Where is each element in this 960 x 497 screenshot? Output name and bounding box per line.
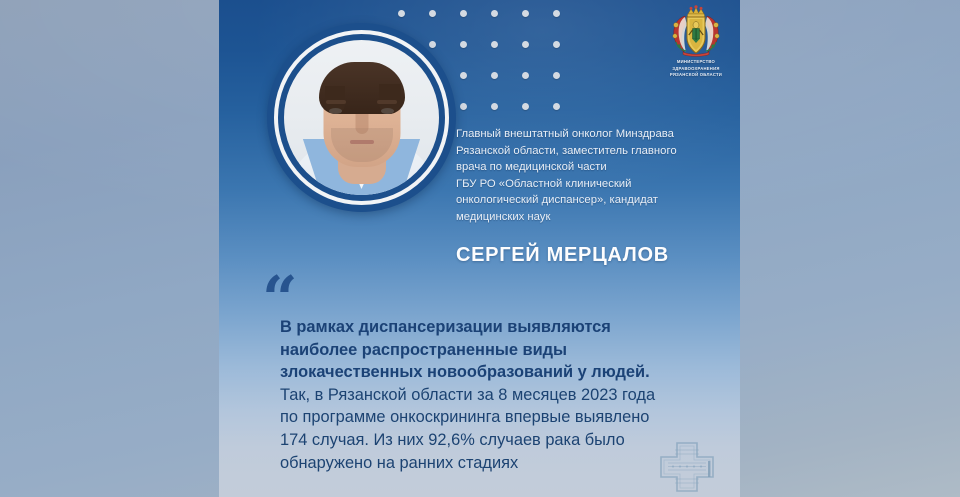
- portrait-hair: [319, 62, 405, 114]
- quote-line: злокачественных новообразований у людей.: [280, 361, 732, 384]
- grid-dot: [522, 41, 529, 48]
- grid-dot: [460, 103, 467, 110]
- medical-cross-icon: [651, 437, 723, 497]
- portrait-nose: [355, 114, 368, 134]
- quote-line: В рамках диспансеризации выявляются: [280, 316, 732, 339]
- position-line: Рязанской области, заместитель главного: [456, 143, 728, 160]
- info-card: МИНИСТЕРСТВО ЗДРАВООХРАНЕНИЯ РЯЗАНСКОЙ О…: [219, 0, 740, 497]
- person-name: СЕРГЕЙ МЕРЦАЛОВ: [456, 244, 669, 267]
- quote-line: Так, в Рязанской области за 8 месяцев 20…: [280, 384, 732, 407]
- position-line: Главный внештатный онколог Минздрава: [456, 126, 728, 143]
- grid-dot: [460, 41, 467, 48]
- position-line: врача по медицинской части: [456, 159, 728, 176]
- position-line: ГБУ РО «Областной клинический: [456, 176, 728, 193]
- position-line: онкологический диспансер», кандидат: [456, 192, 728, 209]
- portrait-mouth: [350, 140, 374, 144]
- avatar-ring-white: [274, 30, 449, 205]
- grid-dot: [553, 72, 560, 79]
- grid-dot: [553, 103, 560, 110]
- grid-dot: [553, 41, 560, 48]
- grid-dot: [460, 72, 467, 79]
- grid-dot: [398, 10, 405, 17]
- portrait-eye-right: [381, 108, 394, 114]
- grid-dot: [491, 41, 498, 48]
- grid-dot: [429, 10, 436, 17]
- avatar-ring-blue: [278, 34, 445, 201]
- grid-dot: [522, 10, 529, 17]
- grid-dot: [491, 72, 498, 79]
- grid-dot: [522, 72, 529, 79]
- portrait-eye-left: [329, 108, 342, 114]
- grid-dot: [491, 103, 498, 110]
- coat-of-arms-icon: [667, 5, 725, 57]
- portrait-brow-left: [326, 100, 346, 104]
- avatar-photo: [284, 40, 439, 195]
- grid-dot: [429, 41, 436, 48]
- ministry-emblem: МИНИСТЕРСТВО ЗДРАВООХРАНЕНИЯ РЯЗАНСКОЙ О…: [660, 5, 732, 85]
- grid-dot: [553, 10, 560, 17]
- grid-dot: [460, 10, 467, 17]
- grid-dot: [491, 10, 498, 17]
- position-line: медицинских наук: [456, 209, 728, 226]
- quote-line: наиболее распространенные виды: [280, 339, 732, 362]
- ministry-emblem-caption: МИНИСТЕРСТВО ЗДРАВООХРАНЕНИЯ РЯЗАНСКОЙ О…: [660, 59, 732, 79]
- quote-line: по программе онкоскрининга впервые выявл…: [280, 406, 732, 429]
- portrait-brow-right: [377, 100, 397, 104]
- avatar: [267, 23, 456, 212]
- grid-dot: [522, 103, 529, 110]
- position-description: Главный внештатный онколог МинздраваРяза…: [456, 126, 728, 226]
